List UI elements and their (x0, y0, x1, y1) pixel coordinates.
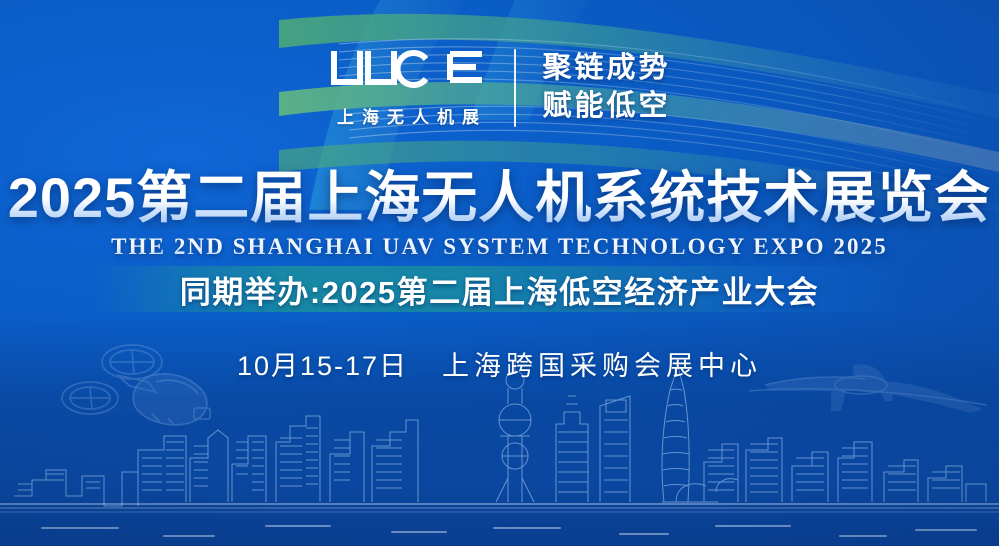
logo-header: 上 海 无 人 机 展 聚链成势 赋能低空 (0, 48, 999, 128)
slogan-line-2: 赋能低空 (542, 90, 670, 124)
concurrent-event-banner: 同期举办:2025第二届上海低空经济产业大会 (92, 266, 907, 312)
event-meta: 10月15-17日 上海跨国采购会展中心 (0, 344, 999, 383)
page-title: 2025第二届上海无人机系统技术展览会 (0, 168, 999, 227)
concurrent-event-text: 同期举办:2025第二届上海低空经济产业大会 (180, 267, 819, 312)
logo-sub-char: 展 (462, 103, 480, 128)
brand-sub-label: 上 海 无 人 机 展 (337, 103, 480, 128)
logo-sub-char: 无 (387, 103, 405, 128)
event-venue: 上海跨国采购会展中心 (442, 344, 762, 383)
brand-logo: 上 海 无 人 机 展 (328, 48, 488, 128)
logo-sub-char: 人 (412, 103, 430, 128)
logo-sub-char: 海 (362, 103, 380, 128)
vertical-divider (514, 49, 516, 127)
slogan-line-1: 聚链成势 (542, 52, 670, 86)
page-subtitle-english: THE 2ND SHANGHAI UAV SYSTEM TECHNOLOGY E… (0, 234, 999, 260)
expo-poster: 上 海 无 人 机 展 聚链成势 赋能低空 2025第二届上海无人机系统技术展览… (0, 0, 999, 546)
slogan-block: 聚链成势 赋能低空 (542, 52, 670, 123)
logo-sub-char: 上 (337, 103, 355, 128)
logo-sub-char: 机 (437, 103, 455, 128)
uuce-wordmark-icon (328, 48, 488, 96)
event-date: 10月15-17日 (237, 344, 408, 383)
title-block: 2025第二届上海无人机系统技术展览会 THE 2ND SHANGHAI UAV… (0, 168, 999, 260)
